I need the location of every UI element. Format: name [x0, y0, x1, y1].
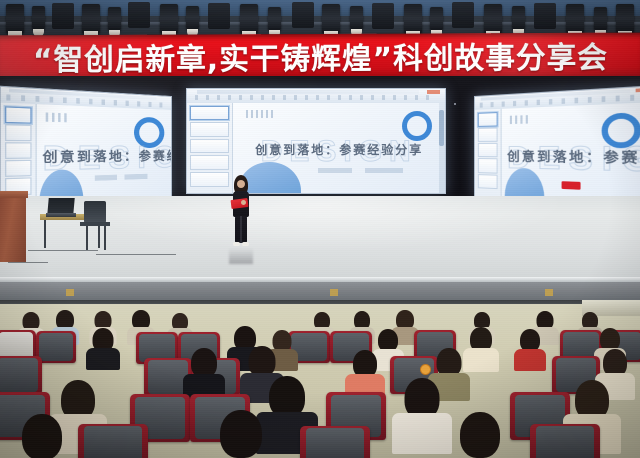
banner-title: “智创启新章,实干铸辉煌”科创故事分享会 — [32, 33, 607, 80]
slide-subtext — [124, 173, 147, 179]
truss-housing — [534, 3, 556, 29]
slide-thumbnail[interactable] — [478, 143, 498, 158]
slide-thumbnail-panel[interactable] — [187, 103, 233, 193]
stage-light-icon — [484, 4, 502, 34]
slide-thumbnail[interactable] — [5, 106, 31, 124]
truss-housing — [52, 3, 74, 29]
stage-light-icon — [404, 4, 422, 34]
audience-member — [186, 348, 222, 396]
slide-thumbnail[interactable] — [5, 160, 31, 177]
slide-canvas: DESIGN 创意到落地：参赛经验分享 — [36, 104, 171, 205]
stage-light-icon — [160, 4, 178, 34]
slide-subtext — [365, 168, 403, 173]
slide-thumbnail[interactable] — [5, 142, 31, 159]
audience-seat — [78, 424, 148, 458]
wooden-podium — [0, 196, 26, 262]
stage-light-icon — [186, 6, 199, 30]
audience-member — [88, 328, 118, 366]
truss-housing — [208, 3, 230, 29]
chair — [84, 201, 106, 223]
left-led-screen[interactable]: DESIGN 创意到落地：参赛经验分享 — [0, 86, 172, 209]
stage-panel-fastener — [330, 289, 338, 296]
slide-thumbnail[interactable] — [190, 106, 229, 121]
stage-light-icon — [32, 6, 45, 30]
stage-panel-fastener — [545, 289, 553, 296]
audience-member — [212, 410, 270, 458]
audience-seat — [0, 356, 42, 394]
audience-member — [398, 378, 446, 442]
stage-light-icon — [322, 4, 340, 34]
event-photograph: “智创启新章,实干铸辉煌”科创故事分享会 — [0, 0, 640, 458]
slide-subtext — [318, 168, 352, 173]
truss-housing — [452, 2, 474, 28]
presenter-shoe — [242, 242, 249, 246]
audience-member — [466, 327, 496, 367]
stage-light-icon — [240, 4, 258, 34]
slide-subtext — [95, 174, 117, 180]
stage-light-icon — [108, 7, 121, 31]
close-icon[interactable] — [427, 90, 440, 93]
audience-seat — [300, 426, 370, 458]
slide-thumbnail[interactable] — [478, 174, 498, 189]
stage-light-icon — [350, 6, 363, 30]
slide-thumbnail[interactable] — [478, 128, 498, 143]
audience-member — [348, 350, 382, 396]
ribbon-tabs — [197, 90, 419, 94]
seat-number-badge — [420, 364, 431, 375]
center-led-screen[interactable]: DESIGN 创意到落地：参赛经验分享 — [186, 88, 446, 194]
slide-title: 创意到落地：参赛经验分享 — [242, 141, 437, 158]
slide-thumbnail[interactable] — [5, 124, 31, 141]
slide-thumbnail[interactable] — [190, 172, 229, 187]
audience-member — [14, 414, 70, 458]
slide-canvas: DESIGN 创意到落地：参赛经验分享 — [502, 102, 640, 207]
slide-thumbnail-panel[interactable] — [475, 109, 502, 199]
stage-light-icon — [594, 7, 607, 31]
ribbon-icons — [195, 95, 435, 100]
presenter — [229, 176, 253, 248]
audience-seat — [36, 331, 76, 363]
audience-member — [452, 412, 508, 458]
slide-thumbnail[interactable] — [478, 159, 498, 174]
presenter-hand — [241, 200, 246, 205]
stage-light-icon — [6, 4, 24, 34]
stage-light-icon — [512, 6, 525, 30]
right-led-screen[interactable]: DESIGN 创意到落地：参赛经验分享 — [474, 85, 640, 208]
vertical-scrollbar[interactable] — [439, 103, 445, 193]
stage-light-icon — [82, 4, 100, 34]
slide-thumbnail[interactable] — [190, 122, 229, 137]
slide-thumbnail[interactable] — [190, 155, 229, 170]
slide-logo-icon — [46, 112, 67, 122]
stage-light-icon — [430, 7, 443, 31]
truss-housing — [128, 2, 150, 28]
powerpoint-ribbon — [187, 89, 445, 104]
truss-housing — [372, 3, 394, 29]
event-banner: “智创启新章,实干铸辉煌”科创故事分享会 — [0, 33, 640, 80]
presenter-shoe — [233, 242, 240, 246]
slide-title: 创意到落地：参赛经验分享 — [42, 146, 166, 166]
slide-red-marker — [562, 181, 581, 190]
slide-logo-icon — [510, 115, 528, 124]
audience-seat — [530, 424, 600, 458]
slide-thumbnail[interactable] — [190, 139, 229, 154]
stage-light-icon — [268, 7, 281, 31]
presenter-face — [237, 180, 245, 188]
close-icon[interactable] — [636, 88, 640, 92]
truss-housing — [292, 2, 314, 28]
slide-canvas: DESIGN 创意到落地：参赛经验分享 — [233, 103, 445, 193]
slide-thumbnail[interactable] — [478, 112, 498, 127]
stage-panel-fastener — [66, 289, 74, 296]
slide-title: 创意到落地：参赛经验分享 — [507, 146, 640, 166]
presenter-legs — [235, 216, 247, 243]
presenter-reflection — [229, 248, 253, 264]
stage-light-icon — [616, 4, 634, 34]
stage-light-icon — [566, 4, 584, 34]
laptop-keyboard — [46, 213, 76, 217]
audience-member — [516, 329, 544, 367]
slide-logo-icon — [246, 110, 276, 118]
